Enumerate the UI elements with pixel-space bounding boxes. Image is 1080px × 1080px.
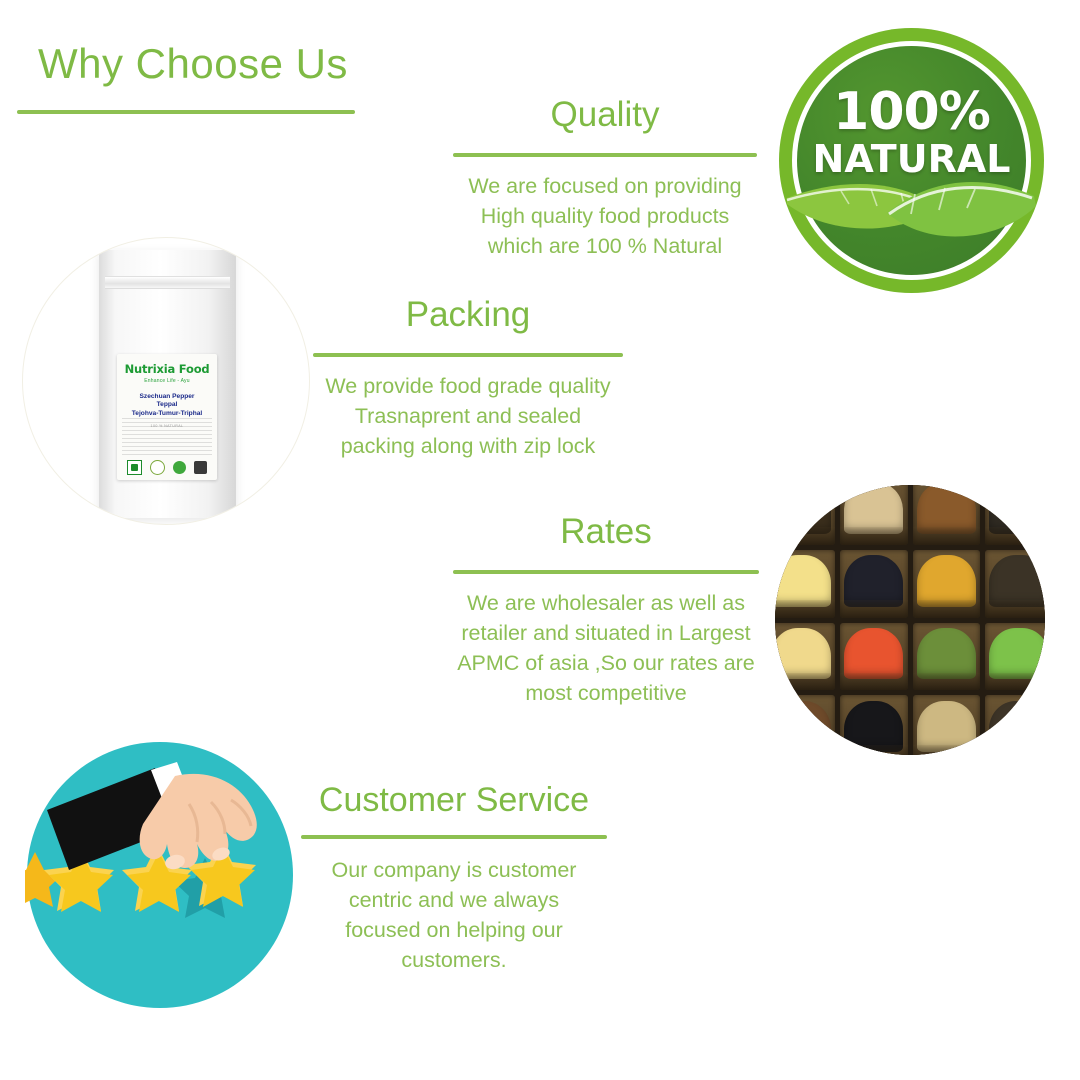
spice-bin (985, 623, 1045, 691)
body-line: most competitive (452, 678, 760, 708)
pouch-certification-badges (123, 459, 211, 475)
spice-bins-grid (775, 485, 1045, 755)
body-line: APMC of asia ,So our rates are (452, 648, 760, 678)
section-rule-quality (453, 153, 757, 157)
body-line: We are focused on providing (450, 171, 760, 201)
section-body-customer-service: Our company is customer centric and we a… (300, 855, 608, 975)
page-title: Why Choose Us (38, 40, 348, 88)
product-pouch-image: Nutrixia Food Enhance Life - Ayu Szechua… (22, 237, 310, 525)
section-body-quality: We are focused on providing High quality… (450, 171, 760, 261)
section-body-packing: We provide food grade quality Trasnapren… (312, 371, 624, 461)
vegetarian-mark-icon (173, 461, 186, 474)
spice-bin (913, 485, 981, 545)
rating-hand-icon (25, 740, 295, 1010)
body-line: We are wholesaler as well as (452, 588, 760, 618)
pouch-brand-name: Nutrixia Food (117, 362, 217, 376)
spice-bin (775, 695, 835, 755)
section-customer-service: Customer Service Our company is customer… (300, 782, 608, 975)
section-packing: Packing We provide food grade quality Tr… (312, 296, 624, 461)
spice-bin (775, 623, 835, 691)
body-line: packing along with zip lock (312, 431, 624, 461)
section-heading-packing: Packing (312, 296, 624, 335)
product-name-line: Tejohva-Tumur-Triphal (117, 410, 217, 418)
pouch-fine-print (122, 418, 212, 458)
spice-bin (775, 485, 835, 545)
pouch-package: Nutrixia Food Enhance Life - Ayu Szechua… (99, 250, 236, 518)
body-line: which are 100 % Natural (450, 231, 760, 261)
product-name-line: Szechuan Pepper (117, 393, 217, 401)
fssai-mark-icon (127, 460, 142, 475)
spice-bin (913, 550, 981, 618)
section-rule-packing (313, 353, 623, 357)
section-rule-customer-service (301, 835, 607, 839)
section-body-rates: We are wholesaler as well as retailer an… (452, 588, 760, 708)
spice-bin (985, 485, 1045, 545)
spice-bin (913, 623, 981, 691)
pouch-brand-tagline: Enhance Life - Ayu (117, 378, 217, 384)
customer-rating-illustration (25, 740, 295, 1010)
page-title-rule (17, 110, 355, 114)
spice-market-image (775, 485, 1045, 755)
section-heading-quality: Quality (450, 96, 760, 135)
hundred-percent-natural-badge: 100% NATURAL (779, 28, 1044, 293)
section-rates: Rates We are wholesaler as well as retai… (452, 513, 760, 708)
body-line: focused on helping our (300, 915, 608, 945)
spice-bin (913, 695, 981, 755)
infographic-canvas: Why Choose Us Quality We are focused on … (0, 0, 1080, 1080)
spice-bin (840, 623, 908, 691)
pouch-label: Nutrixia Food Enhance Life - Ayu Szechua… (117, 354, 217, 480)
spice-bin (840, 550, 908, 618)
spice-bin (840, 485, 908, 545)
body-line: customers. (300, 945, 608, 975)
section-quality: Quality We are focused on providing High… (450, 96, 760, 261)
section-heading-rates: Rates (452, 513, 760, 552)
pouch-product-name: Szechuan Pepper Teppal Tejohva-Tumur-Tri… (117, 393, 217, 418)
spice-bin (840, 695, 908, 755)
body-line: We provide food grade quality (312, 371, 624, 401)
body-line: Our company is customer (300, 855, 608, 885)
body-line: centric and we always (300, 885, 608, 915)
body-line: retailer and situated in Largest (452, 618, 760, 648)
product-name-line: Teppal (117, 401, 217, 409)
organic-seal-icon (150, 460, 165, 475)
section-heading-customer-service: Customer Service (300, 782, 608, 819)
spice-bin (985, 550, 1045, 618)
body-line: Trasnaprent and sealed (312, 401, 624, 431)
spice-bin (985, 695, 1045, 755)
badge-outer-ring: 100% NATURAL (779, 28, 1044, 293)
section-rule-rates (453, 570, 759, 574)
zip-lock-strip (105, 276, 230, 289)
animal-mark-icon (194, 461, 207, 474)
leaf-icon (779, 28, 1044, 293)
spice-bin (775, 550, 835, 618)
body-line: High quality food products (450, 201, 760, 231)
